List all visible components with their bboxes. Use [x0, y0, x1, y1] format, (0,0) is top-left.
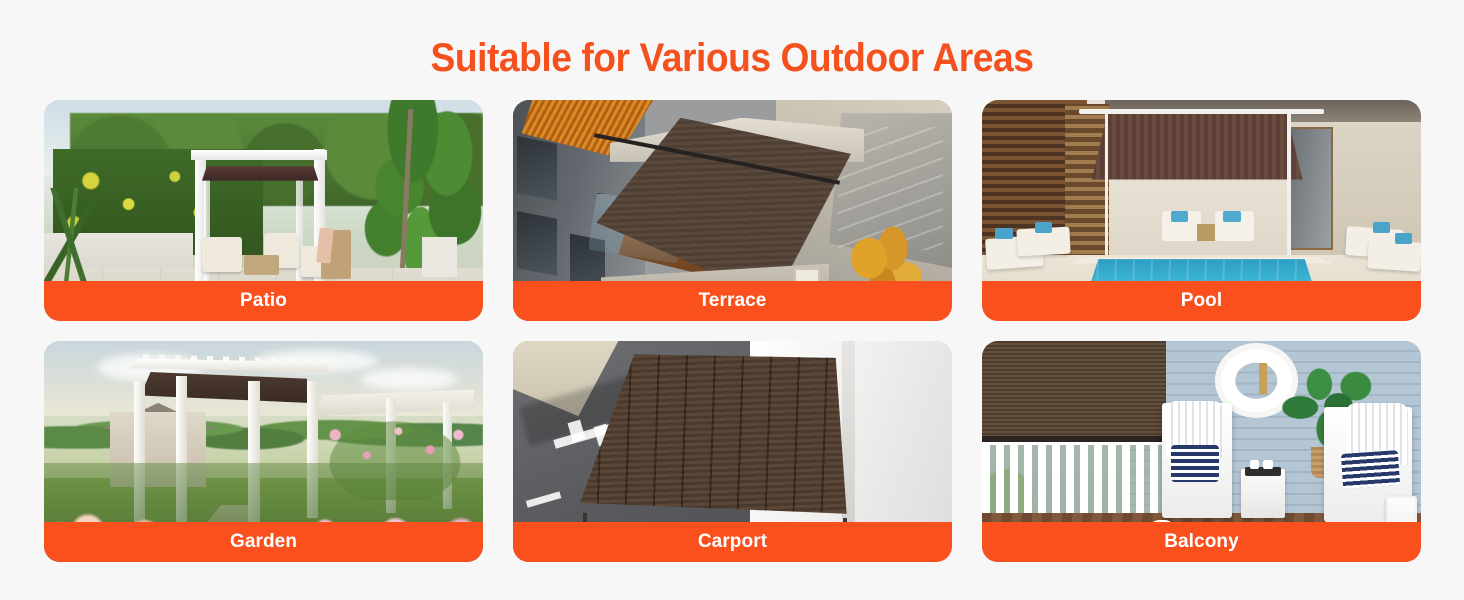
area-card-pool[interactable]: Pool: [982, 100, 1421, 321]
side-table: [1241, 469, 1285, 518]
window-2: [517, 211, 557, 276]
area-card-garden[interactable]: Garden: [44, 341, 483, 562]
area-label-pool: Pool: [982, 281, 1421, 321]
striped-cushion-1: [1171, 445, 1219, 483]
area-label-terrace: Terrace: [513, 281, 952, 321]
pergola-beam: [191, 150, 327, 160]
lounger-cushion-2: [1035, 222, 1053, 233]
page-title: Suitable for Various Outdoor Areas: [51, 34, 1413, 82]
chair-pillow-2: [1223, 211, 1241, 222]
area-card-carport[interactable]: Carport: [513, 341, 952, 562]
chair-pillow-1: [1171, 211, 1189, 222]
area-card-patio[interactable]: Patio: [44, 100, 483, 321]
lounge-chair-1: [202, 237, 242, 272]
cup-2: [1263, 460, 1273, 469]
privacy-screen-bar: [982, 436, 1166, 442]
awning-canopy: [1092, 109, 1303, 180]
outdoor-areas-grid: Patio: [44, 100, 1420, 562]
lounger-cushion-4: [1395, 233, 1413, 244]
area-label-patio: Patio: [44, 281, 483, 321]
side-table: [1197, 224, 1215, 242]
promo-banner: Suitable for Various Outdoor Areas: [0, 0, 1464, 600]
agave-plant: [44, 188, 97, 294]
area-card-balcony[interactable]: Balcony: [982, 341, 1421, 562]
planter-box: [422, 237, 457, 277]
lounger-cushion-1: [995, 228, 1013, 239]
wood-slat-screen: [1065, 104, 1109, 259]
area-label-carport: Carport: [513, 522, 952, 562]
glass-door: [1289, 127, 1333, 251]
privacy-screen: [982, 341, 1166, 438]
window-1: [517, 136, 557, 201]
cup-1: [1250, 460, 1260, 469]
striped-cushion-2: [1341, 450, 1400, 489]
sun-lounger-4: [1367, 240, 1421, 272]
cloud-3: [360, 368, 457, 390]
awning-canopy: [202, 166, 318, 180]
area-card-terrace[interactable]: Terrace: [513, 100, 952, 321]
coffee-table: [244, 255, 279, 275]
mirror-strap: [1259, 363, 1268, 394]
awning-support-left: [1105, 113, 1109, 259]
lounger-cushion-3: [1373, 222, 1391, 233]
area-label-garden: Garden: [44, 522, 483, 562]
area-label-balcony: Balcony: [982, 522, 1421, 562]
awning-support-right: [1287, 113, 1291, 259]
